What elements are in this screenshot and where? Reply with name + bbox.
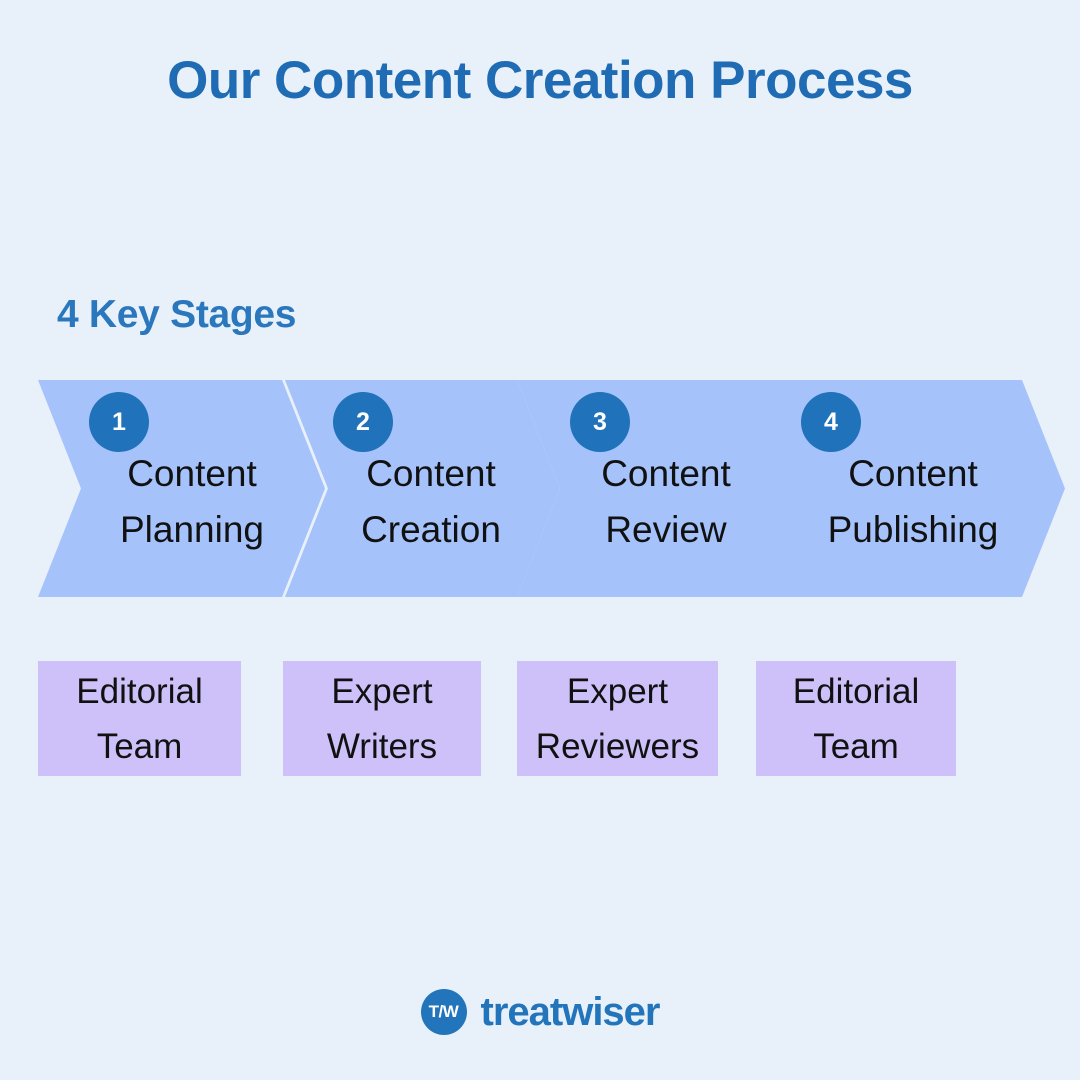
stage-label-4: Content Publishing [789, 446, 1037, 558]
logo-wordmark: treatwiser [481, 990, 660, 1035]
section-subtitle: 4 Key Stages [57, 292, 296, 338]
stage-number-badge-3: 3 [570, 392, 630, 452]
stage-label-2: Content Creation [325, 446, 537, 558]
process-stage-2[interactable]: 2 Content Creation [285, 380, 560, 597]
stage-owner-3[interactable]: Expert Reviewers [517, 661, 718, 776]
process-flow: 1 Content Planning 2 Content Creation 3 … [0, 380, 1080, 600]
logo-mark-icon: T/W [421, 989, 467, 1035]
infographic-canvas: Our Content Creation Process 4 Key Stage… [0, 0, 1080, 1080]
stage-owner-4[interactable]: Editorial Team [756, 661, 956, 776]
page-title: Our Content Creation Process [0, 52, 1080, 110]
stage-owners: Editorial Team Expert Writers Expert Rev… [0, 661, 1080, 781]
brand-logo[interactable]: T/W treatwiser [0, 982, 1080, 1042]
stage-label-1: Content Planning [81, 446, 303, 558]
process-stage-1[interactable]: 1 Content Planning [38, 380, 325, 597]
stage-number-badge-2: 2 [333, 392, 393, 452]
stage-number-badge-1: 1 [89, 392, 149, 452]
stage-owner-1[interactable]: Editorial Team [38, 661, 241, 776]
process-stage-4[interactable]: 4 Content Publishing [741, 380, 1065, 597]
stage-owner-2[interactable]: Expert Writers [283, 661, 481, 776]
stage-number-badge-4: 4 [801, 392, 861, 452]
stage-label-3: Content Review [560, 446, 772, 558]
